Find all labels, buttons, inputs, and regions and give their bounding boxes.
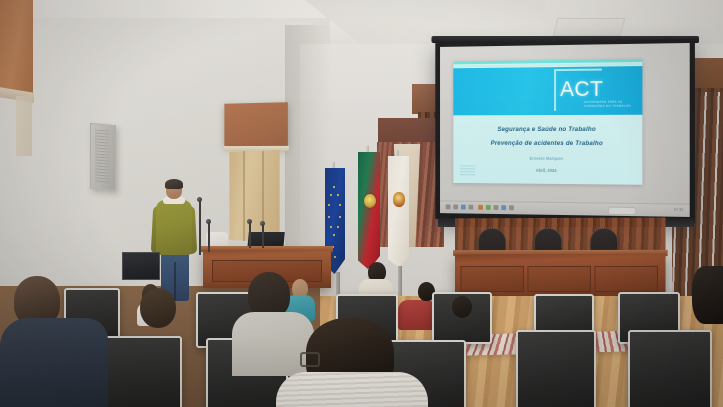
curtain-top-left: [0, 0, 33, 95]
wood-panel-groove: [243, 151, 245, 241]
slide-title-line1: Segurança e Saúde no Trabalho: [453, 126, 642, 133]
speaker-grill-icon: [95, 129, 109, 182]
audience-head: [140, 288, 176, 328]
powerpoint-icon[interactable]: [478, 205, 483, 210]
wall-board: [224, 102, 288, 148]
flag-portugal: [358, 152, 380, 270]
dais-panel: [527, 266, 591, 292]
flag-municipal: [388, 156, 409, 268]
ceiling-vent-icon: [553, 18, 625, 36]
act-logo-subtitle-line2: CONDIÇÕES DO TRABALHO: [584, 104, 631, 108]
window-icon[interactable]: [501, 205, 506, 210]
conference-room-photo: ACT AUTORIDADE PARA AS CONDIÇÕES DO TRAB…: [0, 0, 723, 407]
start-icon[interactable]: [446, 204, 451, 209]
presenter-hair: [165, 179, 183, 189]
search-icon[interactable]: [453, 204, 458, 209]
microphone-icon: [260, 221, 265, 226]
presenter-shirt: [156, 200, 192, 255]
taskbar-clock[interactable]: 14:32: [674, 208, 684, 212]
slide-presenter-name: Ernesto Marques: [453, 155, 642, 161]
projection-screen[interactable]: ACT AUTORIDADE PARA AS CONDIÇÕES DO TRAB…: [435, 39, 695, 223]
microphone-icon: [197, 197, 202, 202]
dais-panel: [460, 266, 524, 292]
slide-date: Abril, 2024: [453, 167, 642, 173]
portugal-coat-of-arms-icon: [364, 194, 376, 208]
slide-title-line2: Prevenção de acidentes de Trabalho: [453, 140, 642, 147]
audience-body: [0, 318, 108, 407]
presenter-leg-seam: [174, 262, 176, 301]
side-monitor[interactable]: [122, 252, 160, 280]
excel-icon[interactable]: [486, 205, 491, 210]
browser-icon[interactable]: [469, 205, 474, 210]
microphone-icon: [247, 219, 252, 224]
dais-panel: [594, 266, 658, 292]
microphone-stand: [262, 224, 264, 248]
screen-surface: ACT AUTORIDADE PARA AS CONDIÇÕES DO TRAB…: [440, 43, 690, 217]
act-logo-text: ACT: [560, 78, 603, 102]
audience-chair[interactable]: [628, 330, 712, 407]
microphone-stand: [249, 222, 251, 248]
microphone-icon: [206, 219, 211, 224]
microphone-stand: [208, 222, 210, 252]
wood-wall-panel: [229, 150, 279, 242]
floor-microphone-stand: [199, 200, 201, 255]
audience-body: [276, 372, 428, 407]
audience-head: [452, 296, 472, 318]
folder-icon[interactable]: [461, 205, 466, 210]
mail-icon[interactable]: [494, 205, 499, 210]
audience-chair[interactable]: [104, 336, 182, 407]
presentation-slide: ACT AUTORIDADE PARA AS CONDIÇÕES DO TRAB…: [453, 59, 642, 185]
slide-footer-logo-icon: [460, 165, 475, 176]
audience-chair[interactable]: [516, 330, 596, 407]
audience-head: [692, 266, 723, 324]
taskbar-window-button[interactable]: [608, 206, 636, 215]
act-logo: ACT AUTORIDADE PARA AS CONDIÇÕES DO TRAB…: [554, 68, 630, 113]
municipal-coat-of-arms-icon: [393, 192, 405, 207]
audience-body: [398, 300, 436, 330]
eyeglasses-icon: [300, 352, 320, 367]
os-taskbar[interactable]: 14:32: [440, 200, 690, 217]
curtain-tail: [16, 96, 32, 156]
app-icon[interactable]: [509, 205, 514, 210]
